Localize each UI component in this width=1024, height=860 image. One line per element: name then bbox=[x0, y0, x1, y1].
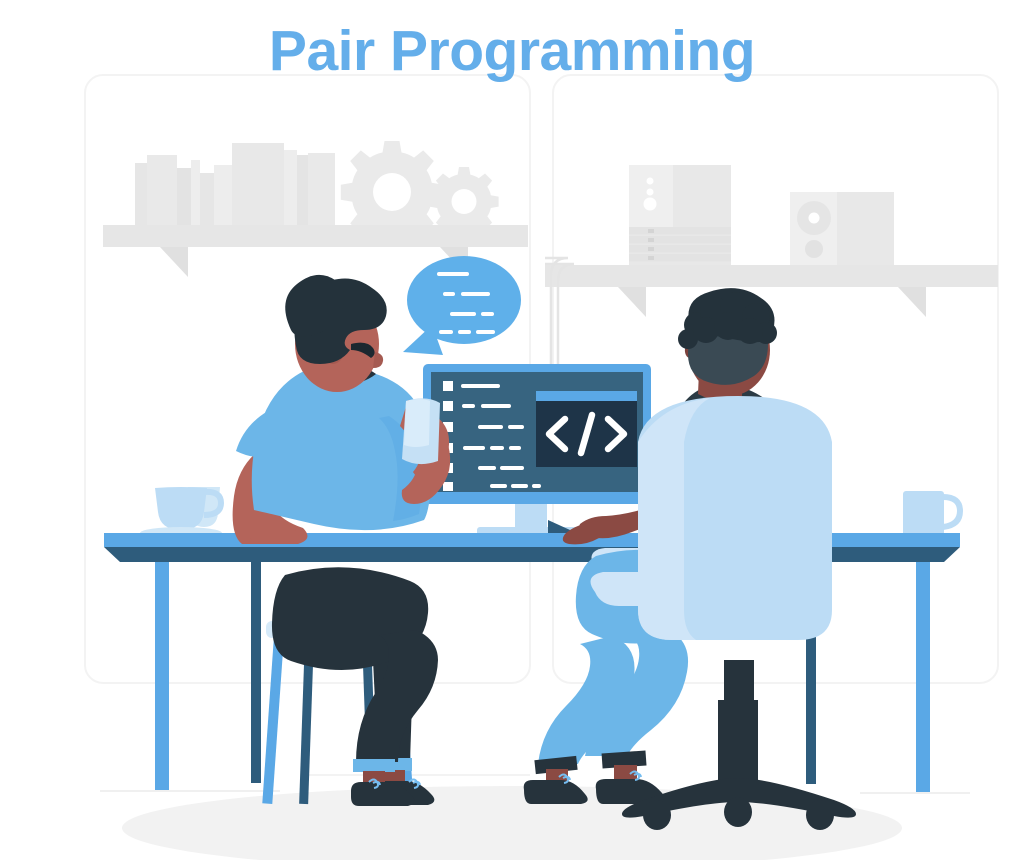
desktop-speaker-icon bbox=[790, 192, 894, 265]
illustration-stage: Pair Programming bbox=[0, 0, 1024, 860]
book-5 bbox=[200, 173, 214, 225]
code-panel-titlebar bbox=[536, 391, 637, 401]
desk-leg-left-inner bbox=[251, 547, 261, 783]
book-1 bbox=[135, 163, 147, 225]
book-6 bbox=[214, 165, 232, 225]
left-person-near-cuff bbox=[353, 759, 395, 772]
book-4 bbox=[191, 160, 200, 225]
book-3 bbox=[177, 168, 191, 225]
gear-small-hub bbox=[452, 189, 477, 214]
office-chair-wheel-1 bbox=[643, 800, 671, 830]
bookshelf-books bbox=[135, 143, 335, 225]
floor-line-left bbox=[100, 790, 280, 792]
desk-leg-left bbox=[155, 562, 169, 790]
book-7 bbox=[232, 143, 284, 225]
right-shelf-board bbox=[545, 265, 998, 287]
book-9 bbox=[297, 155, 308, 225]
right-person-far-shoe bbox=[524, 780, 588, 804]
left-shelf-board bbox=[103, 225, 528, 247]
desk-leg-right bbox=[916, 562, 930, 792]
code-preview-panel[interactable] bbox=[536, 391, 637, 467]
gear-large-hub bbox=[373, 173, 411, 211]
book-8 bbox=[284, 150, 297, 225]
server-tower-icon bbox=[629, 165, 731, 265]
pair-programming-illustration bbox=[0, 0, 1024, 860]
book-2 bbox=[147, 155, 177, 225]
office-chair-cylinder bbox=[718, 700, 758, 788]
book-10 bbox=[308, 153, 335, 225]
office-chair-wheel-2 bbox=[724, 797, 752, 827]
sticky-note-fold bbox=[404, 399, 430, 447]
page-title: Pair Programming bbox=[0, 18, 1024, 84]
floor-line-mid bbox=[300, 774, 530, 776]
office-chair-wheel-3 bbox=[806, 800, 834, 830]
floor-line-right bbox=[860, 792, 970, 794]
